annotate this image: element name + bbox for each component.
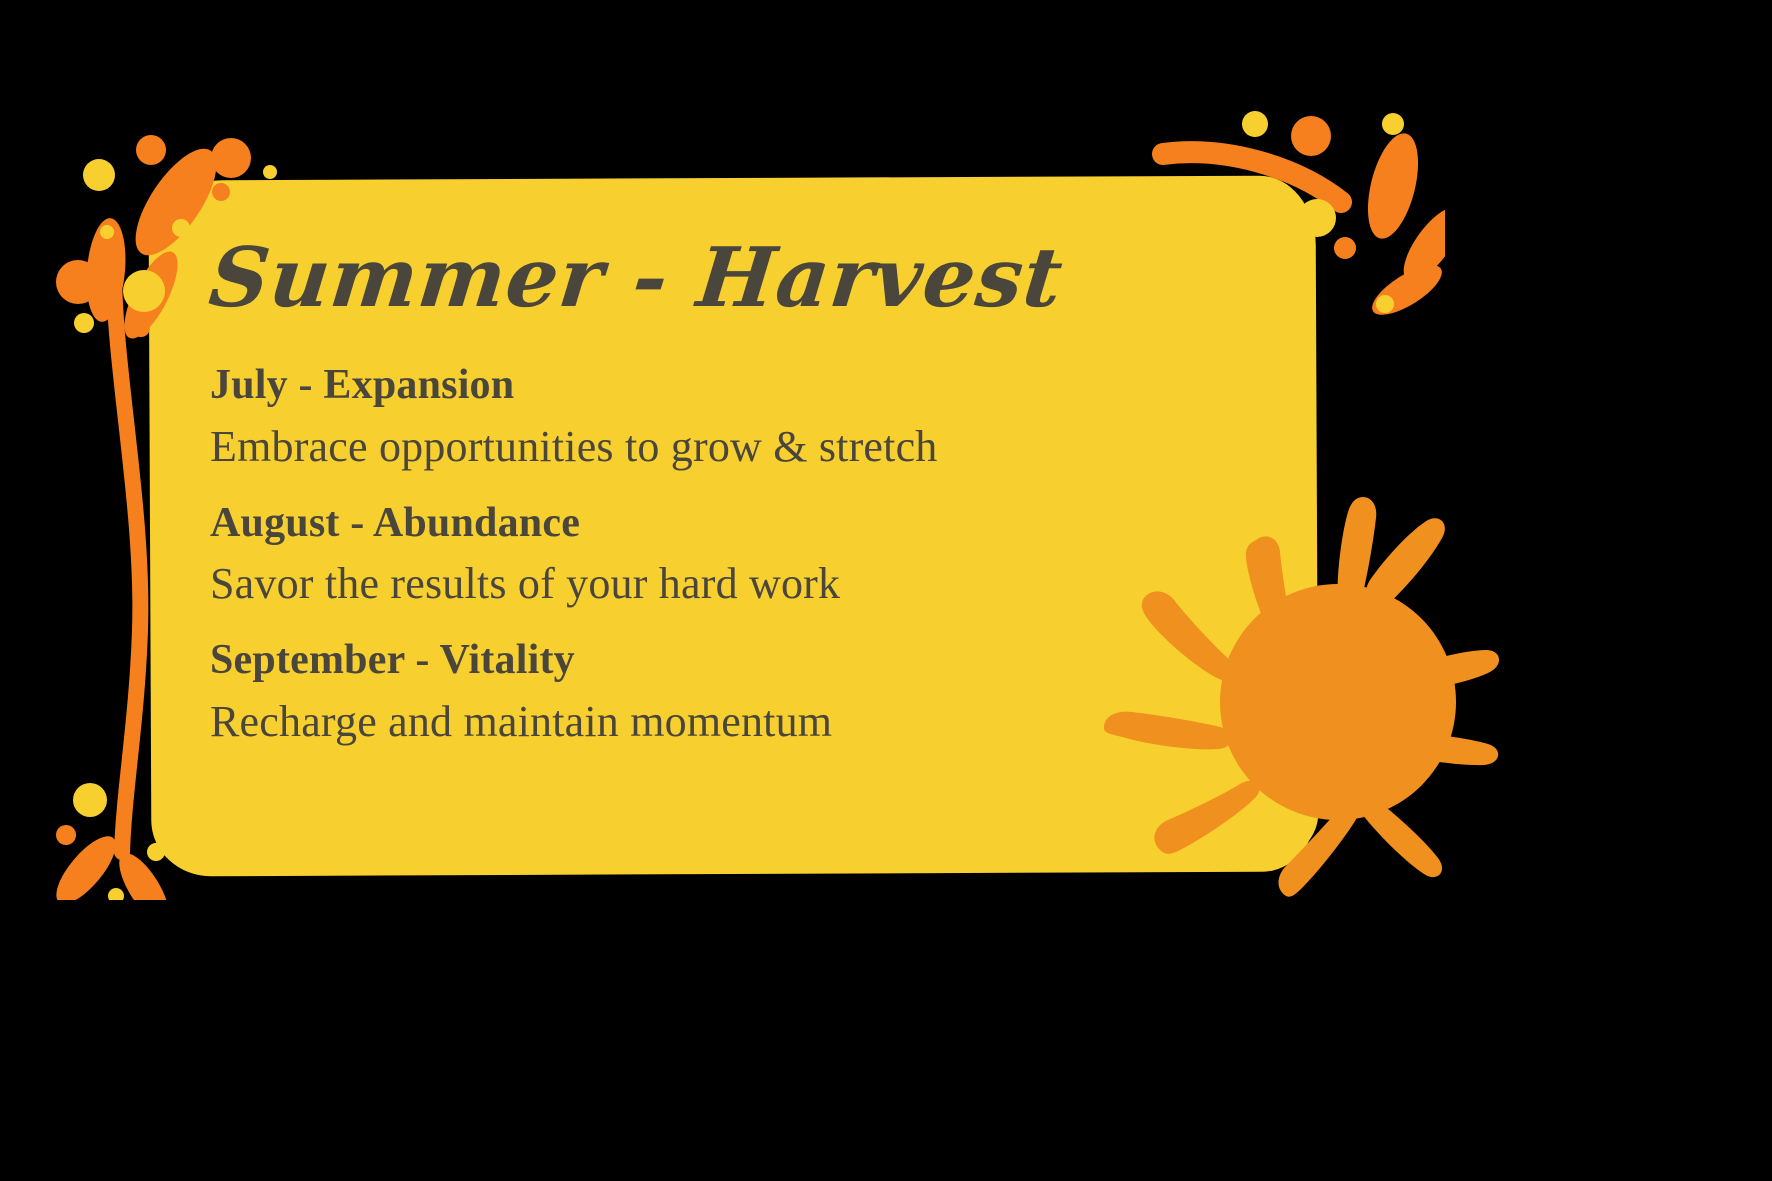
entry-desc-august: Savor the results of your hard work: [210, 558, 1170, 610]
poster-canvas: Summer - Harvest July - Expansion Embrac…: [0, 0, 1772, 1181]
entry-month-august: August - Abundance: [210, 499, 1170, 549]
page-title: Summer - Harvest: [206, 236, 1175, 321]
top-left-flourish: [56, 110, 306, 900]
entry-desc-july: Embrace opportunities to grow & stretch: [210, 421, 1170, 473]
top-right-flourish: [1145, 108, 1445, 408]
entry-month-september: September - Vitality: [210, 636, 1170, 686]
entry-desc-september: Recharge and maintain momentum: [210, 696, 1170, 748]
entry-month-july: July - Expansion: [210, 361, 1170, 411]
card-content: Summer - Harvest July - Expansion Embrac…: [210, 236, 1170, 748]
